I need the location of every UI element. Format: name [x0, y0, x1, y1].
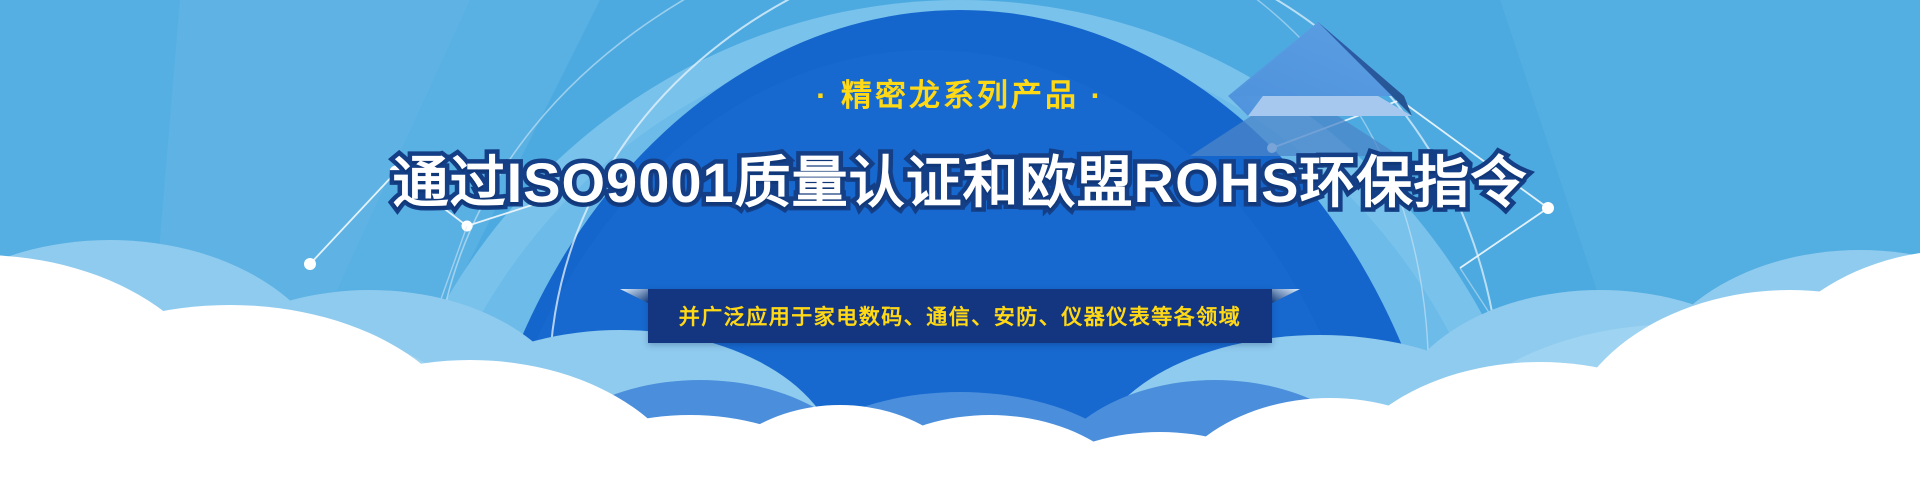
promo-banner: · 精密龙系列产品 · 通过ISO9001质量认证和欧盟ROHS环保指令 并广泛… — [0, 0, 1920, 480]
banner-artwork — [0, 0, 1920, 480]
